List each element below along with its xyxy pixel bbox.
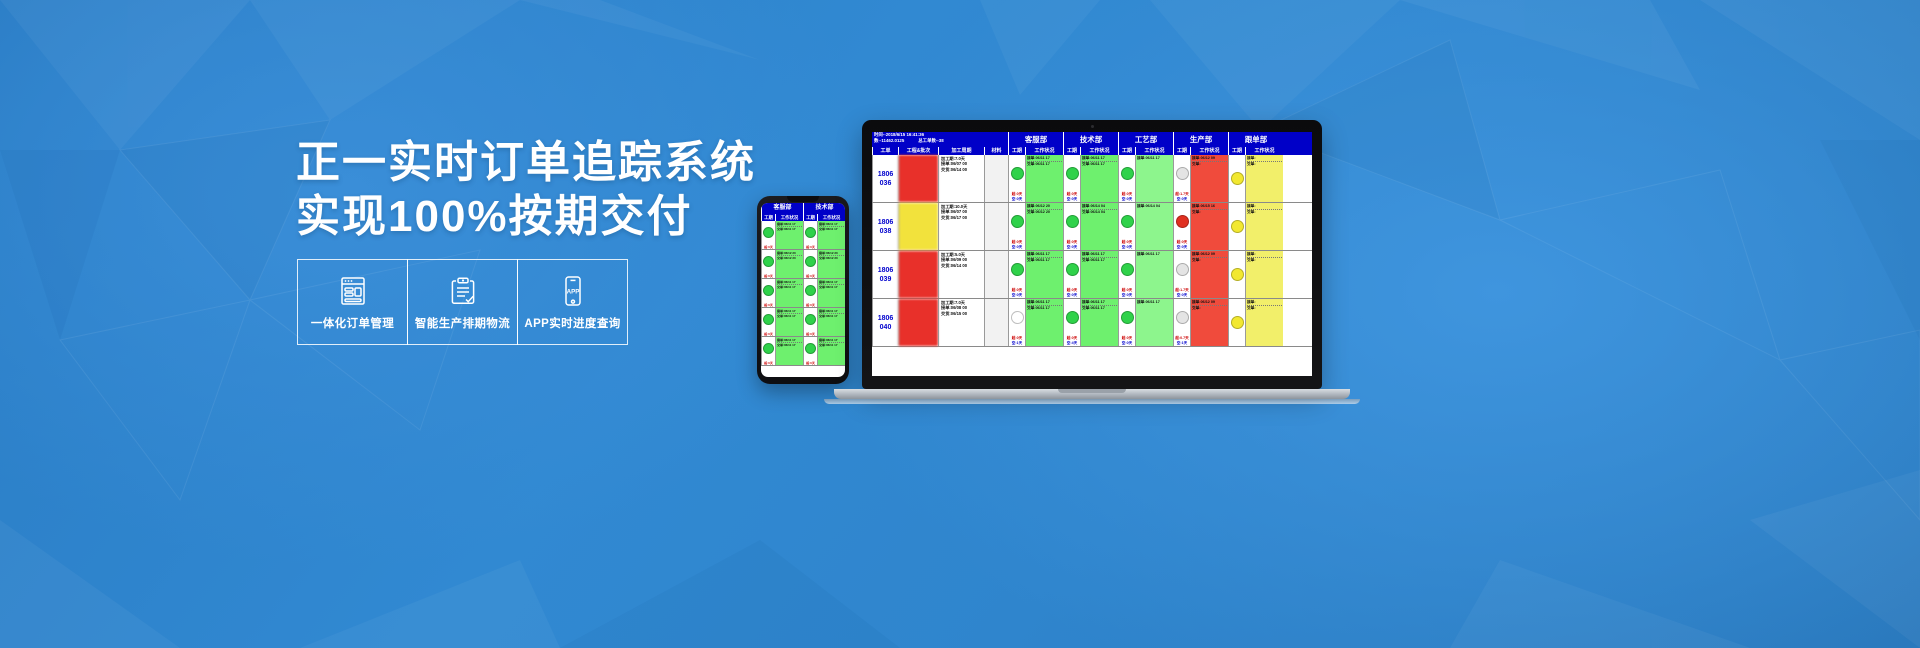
clipboard-checklist-icon (446, 274, 480, 308)
dept-0-status-cell[interactable]: 接单:06/11 17交单:06/11 17 (1025, 251, 1063, 298)
dept-3-duration-cell[interactable]: 超:0天空:0天 (1173, 203, 1190, 250)
phone-status-cell[interactable]: 接单:06/11 17交单:06/11 17 (817, 279, 845, 307)
status-dot (1066, 311, 1079, 324)
work-order-cell[interactable]: 1806039 (872, 251, 898, 298)
status-dot (1176, 263, 1189, 276)
status-dot (1231, 316, 1244, 329)
dept-4-status-cell[interactable]: 接单:交单: (1245, 155, 1283, 202)
feature-item-app-progress[interactable]: APP APP实时进度查询 (517, 259, 628, 345)
over-tag: 超:0天 (762, 245, 775, 249)
dept-2-status-cell[interactable]: 接单:06/11 17 (1135, 299, 1173, 346)
over-tag: 超:0天 (804, 303, 817, 307)
table-row[interactable]: 1806038加工期:10.0天接单:06/07 00交货:06/17 00超:… (872, 203, 1312, 251)
material-cell[interactable] (984, 203, 1008, 250)
status-dot (805, 343, 816, 354)
status-dot (805, 285, 816, 296)
dept-1-duration-cell[interactable]: 超:0天空:0天 (1063, 155, 1080, 202)
status-dot (1231, 220, 1244, 233)
phone-duration-cell[interactable]: 超:0天 (803, 221, 817, 249)
table-row[interactable]: 1806036加工期:7.0天接单:06/07 00交货:06/14 00超:0… (872, 155, 1312, 203)
table-row[interactable]: 1806040加工期:7.0天接单:06/08 00交货:06/15 00超:0… (872, 299, 1312, 347)
phone-dept-0-status-header[interactable]: 工作状况 (775, 214, 803, 221)
dept-0-duration-cell[interactable]: 超:0天空:1天 (1008, 299, 1025, 346)
phone-duration-cell[interactable]: 超:0天 (761, 250, 775, 278)
phone-table-row[interactable]: 超:0天接单:06/11 17交单:06/11 17超:0天接单:06/11 1… (761, 308, 845, 337)
over-tag: 超:0天 (804, 361, 817, 365)
status-dot (763, 227, 774, 238)
dept-2-duration-cell[interactable]: 超:0天空:0天 (1118, 155, 1135, 202)
remain-tag: 空:0天 (1119, 245, 1135, 250)
webcam-icon (1091, 125, 1094, 128)
phone-status-cell[interactable]: 接单:06/11 17交单:06/11 17 (775, 337, 803, 365)
over-tag: 超:0天 (762, 303, 775, 307)
status-dot (1066, 263, 1079, 276)
phone-mockup: 客服部技术部工期工作状况工期工作状况超:0天接单:06/11 17交单:06/1… (757, 196, 849, 384)
feature-label: 一体化订单管理 (311, 315, 394, 331)
status-dot (1176, 311, 1189, 324)
dept-header-0[interactable]: 客服部 (1008, 132, 1063, 147)
dept-1-status-cell[interactable]: 接单:06/11 17交单:06/11 17 (1080, 251, 1118, 298)
cycle-cell[interactable]: 加工期:7.0天接单:06/07 00交货:06/14 00 (938, 155, 984, 202)
dept-3-status-cell[interactable]: 接单:06/15 16交单: (1190, 203, 1228, 250)
status-dot (763, 285, 774, 296)
dept-0-duration-cell[interactable]: 超:0天空:0天 (1008, 251, 1025, 298)
dept-2-duration-cell[interactable]: 超:0天空:0天 (1118, 299, 1135, 346)
phone-table-row[interactable]: 超:0天接单:06/11 17交单:06/11 17超:0天接单:06/11 1… (761, 337, 845, 366)
feature-list: 一体化订单管理 智能生产排期物流 APP APP实时进度查询 (297, 259, 627, 345)
dept-2-status-cell[interactable]: 接单:06/14 04 (1135, 203, 1173, 250)
dept-2-duration-cell[interactable]: 超:0天空:0天 (1118, 203, 1135, 250)
feature-item-order-management[interactable]: 一体化订单管理 (297, 259, 408, 345)
cycle-cell[interactable]: 加工期:10.0天接单:06/07 00交货:06/17 00 (938, 203, 984, 250)
status-dot (1011, 263, 1024, 276)
dept-1-status-header[interactable]: 工作状况 (1080, 147, 1118, 155)
svg-text:APP: APP (566, 288, 579, 295)
remain-tag: 空:4天 (1064, 341, 1080, 346)
dept-0-status-cell[interactable]: 接单:06/11 17交单:06/11 17 (1025, 299, 1063, 346)
phone-dept-1-status-header[interactable]: 工作状况 (817, 214, 845, 221)
status-dot (805, 227, 816, 238)
phone-table-row[interactable]: 超:0天接单:06/11 17交单:06/11 17超:0天接单:06/11 1… (761, 279, 845, 308)
work-order-cell[interactable]: 1806036 (872, 155, 898, 202)
dashboard-total: 总工单数--38 (918, 138, 943, 144)
phone-duration-cell[interactable]: 超:0天 (761, 221, 775, 249)
phone-duration-cell[interactable]: 超:0天 (761, 337, 775, 365)
remain-tag: 空:0天 (1174, 197, 1190, 202)
phone-status-cell[interactable]: 接单:06/11 17交单:06/11 17 (817, 337, 845, 365)
remain-tag: 空:1天 (1174, 341, 1190, 346)
col-header-3[interactable]: 材料 (984, 147, 1008, 155)
dashboard-subheader: 工单工程&批次加工周期材料工期工作状况工期工作状况工期工作状况工期工作状况工期工… (872, 147, 1312, 155)
cycle-cell[interactable]: 加工期:7.0天接单:06/08 00交货:06/15 00 (938, 299, 984, 346)
col-header-0[interactable]: 工单 (872, 147, 898, 155)
dept-4-duration-cell[interactable] (1228, 155, 1245, 202)
status-dot (805, 256, 816, 267)
remain-tag: 空:0天 (1119, 341, 1135, 346)
dept-4-duration-cell[interactable] (1228, 299, 1245, 346)
phone-status-cell[interactable]: 接单:06/11 17交单:06/11 17 (775, 221, 803, 249)
status-dot (1231, 268, 1244, 281)
dashboard-rows: 1806036加工期:7.0天接单:06/07 00交货:06/14 00超:0… (872, 155, 1312, 347)
project-batch-cell[interactable] (898, 155, 938, 202)
phone-screen[interactable]: 客服部技术部工期工作状况工期工作状况超:0天接单:06/11 17交单:06/1… (761, 203, 845, 377)
dept-3-duration-cell[interactable]: 超:1.7天空:0天 (1173, 155, 1190, 202)
over-tag: 超:0天 (762, 332, 775, 336)
laptop-lid: 时间--2018/6/15 16:41:36数--11462.0125总工单数-… (862, 120, 1322, 389)
remain-tag: 空:0天 (1119, 197, 1135, 202)
col-header-1[interactable]: 工程&批次 (898, 147, 938, 155)
dashboard-code: 数--11462.0125 (874, 138, 904, 144)
phone-status-cell[interactable]: 接单:06/11 17交单:06/11 17 (775, 279, 803, 307)
over-tag: 超:0天 (762, 361, 775, 365)
dept-0-duration-cell[interactable]: 超:0天空:0天 (1008, 203, 1025, 250)
phone-dashboard[interactable]: 客服部技术部工期工作状况工期工作状况超:0天接单:06/11 17交单:06/1… (761, 203, 845, 377)
over-tag: 超:0天 (804, 245, 817, 249)
status-dot (763, 343, 774, 354)
dept-3-status-cell[interactable]: 接单:06/12 09交单: (1190, 251, 1228, 298)
dept-3-duration-header[interactable]: 工期 (1173, 147, 1190, 155)
dept-header-2[interactable]: 工艺部 (1118, 132, 1173, 147)
table-row[interactable]: 1806039加工期:5.0天接单:06/09 00交货:06/14 00超:0… (872, 251, 1312, 299)
dept-3-duration-cell[interactable]: 超:1.7天空:0天 (1173, 251, 1190, 298)
over-tag: 超:0天 (804, 274, 817, 278)
laptop-mockup: 时间--2018/6/15 16:41:36数--11462.0125总工单数-… (862, 120, 1322, 415)
remain-tag: 空:0天 (1119, 293, 1135, 298)
phone-dept-0-duration-header[interactable]: 工期 (761, 214, 775, 221)
dept-3-duration-cell[interactable]: 超:0.7天空:1天 (1173, 299, 1190, 346)
dept-1-duration-header[interactable]: 工期 (1063, 147, 1080, 155)
phone-duration-cell[interactable]: 超:0天 (761, 308, 775, 336)
dept-header-3[interactable]: 生产部 (1173, 132, 1228, 147)
phone-body: 客服部技术部工期工作状况工期工作状况超:0天接单:06/11 17交单:06/1… (757, 196, 849, 384)
laptop-base (834, 389, 1350, 399)
over-tag: 超:0天 (804, 332, 817, 336)
dept-header-1[interactable]: 技术部 (1063, 132, 1118, 147)
cycle-cell[interactable]: 加工期:5.0天接单:06/09 00交货:06/14 00 (938, 251, 984, 298)
dept-2-status-cell[interactable]: 接单:06/11 17 (1135, 251, 1173, 298)
status-dot (1121, 215, 1134, 228)
phone-duration-cell[interactable]: 超:0天 (803, 308, 817, 336)
dept-1-status-cell[interactable]: 接单:06/14 04交单:06/14 04 (1080, 203, 1118, 250)
remain-tag: 空:0天 (1009, 293, 1025, 298)
dept-4-duration-cell[interactable] (1228, 203, 1245, 250)
phone-dept-header-0[interactable]: 客服部 (761, 203, 803, 214)
dept-0-duration-header[interactable]: 工期 (1008, 147, 1025, 155)
status-dot (1011, 167, 1024, 180)
phone-status-cell[interactable]: 接单:06/11 17交单:06/11 17 (775, 308, 803, 336)
dept-4-status-cell[interactable]: 接单:交单: (1245, 251, 1283, 298)
status-dot (1121, 311, 1134, 324)
phone-duration-cell[interactable]: 超:0天 (803, 337, 817, 365)
dept-2-status-cell[interactable]: 接单:06/11 17 (1135, 155, 1173, 202)
status-dot (763, 256, 774, 267)
dept-3-status-cell[interactable]: 接单:06/12 09交单: (1190, 299, 1228, 346)
dept-0-status-cell[interactable]: 接单:06/12 20交单:06/12 20 (1025, 203, 1063, 250)
work-order-cell[interactable]: 1806040 (872, 299, 898, 346)
dept-2-duration-header[interactable]: 工期 (1118, 147, 1135, 155)
phone-dashboard-header: 客服部技术部工期工作状况工期工作状况 (761, 203, 845, 221)
dept-1-duration-cell[interactable]: 超:0天空:0天 (1063, 203, 1080, 250)
laptop-screen[interactable]: 时间--2018/6/15 16:41:36数--11462.0125总工单数-… (872, 132, 1312, 376)
phone-status-cell[interactable]: 接单:06/12 20交单:06/12 20 (817, 250, 845, 278)
project-batch-cell[interactable] (898, 299, 938, 346)
phone-dept-header-1[interactable]: 技术部 (803, 203, 845, 214)
dept-2-status-header[interactable]: 工作状况 (1135, 147, 1173, 155)
col-header-2[interactable]: 加工周期 (938, 147, 984, 155)
phone-duration-cell[interactable]: 超:0天 (803, 250, 817, 278)
phone-dept-1-duration-header[interactable]: 工期 (803, 214, 817, 221)
dept-4-status-cell[interactable]: 接单:交单: (1245, 299, 1283, 346)
remain-tag: 空:0天 (1064, 245, 1080, 250)
remain-tag: 空:0天 (1174, 245, 1190, 250)
remain-tag: 空:0天 (1174, 293, 1190, 298)
status-dot (1066, 215, 1079, 228)
phone-duration-cell[interactable]: 超:0天 (761, 279, 775, 307)
over-tag: 超:0天 (762, 274, 775, 278)
document-list-icon (336, 274, 370, 308)
project-batch-cell[interactable] (898, 203, 938, 250)
phone-table-row[interactable]: 超:0天接单:06/12 20交单:06/12 20超:0天接单:06/12 2… (761, 250, 845, 279)
material-cell[interactable] (984, 251, 1008, 298)
phone-status-cell[interactable]: 接单:06/11 17交单:06/11 17 (817, 308, 845, 336)
remain-tag: 空:1天 (1009, 341, 1025, 346)
dept-header-4[interactable]: 跟单部 (1228, 132, 1283, 147)
status-dot (1121, 263, 1134, 276)
dashboard-meta: 时间--2018/6/15 16:41:36数--11462.0125总工单数-… (872, 132, 1008, 147)
remain-tag: 空:0天 (1009, 245, 1025, 250)
remain-tag: 空:0天 (1064, 197, 1080, 202)
dept-0-duration-cell[interactable]: 超:0天空:0天 (1008, 155, 1025, 202)
status-dot (1121, 167, 1134, 180)
phone-notch (787, 196, 819, 202)
dept-1-status-cell[interactable]: 接单:06/11 17交单:06/11 17 (1080, 299, 1118, 346)
status-dot (1011, 215, 1024, 228)
feature-item-production-scheduling[interactable]: 智能生产排期物流 (407, 259, 518, 345)
dept-0-status-header[interactable]: 工作状况 (1025, 147, 1063, 155)
phone-status-cell[interactable]: 接单:06/12 20交单:06/12 20 (775, 250, 803, 278)
feature-label: APP实时进度查询 (524, 315, 620, 331)
phone-table-row[interactable]: 超:0天接单:06/11 17交单:06/11 17超:0天接单:06/11 1… (761, 221, 845, 250)
status-dot (1011, 311, 1024, 324)
project-batch-cell[interactable] (898, 251, 938, 298)
dept-1-duration-cell[interactable]: 超:0天空:0天 (1063, 251, 1080, 298)
status-dot (1231, 172, 1244, 185)
mobile-app-icon: APP (556, 274, 590, 308)
phone-status-cell[interactable]: 接单:06/11 17交单:06/11 17 (817, 221, 845, 249)
dept-1-status-cell[interactable]: 接单:06/11 17交单:06/11 17 (1080, 155, 1118, 202)
remain-tag: 空:0天 (1064, 293, 1080, 298)
dept-4-duration-cell[interactable] (1228, 251, 1245, 298)
status-dot (805, 314, 816, 325)
phone-duration-cell[interactable]: 超:0天 (803, 279, 817, 307)
dept-3-status-cell[interactable]: 接单:06/12 09交单: (1190, 155, 1228, 202)
dept-3-status-header[interactable]: 工作状况 (1190, 147, 1228, 155)
dept-2-duration-cell[interactable]: 超:0天空:0天 (1118, 251, 1135, 298)
remain-tag: 空:0天 (1009, 197, 1025, 202)
dept-4-status-header[interactable]: 工作状况 (1245, 147, 1283, 155)
material-cell[interactable] (984, 155, 1008, 202)
dashboard-header: 时间--2018/6/15 16:41:36数--11462.0125总工单数-… (872, 132, 1312, 155)
status-dot (1176, 167, 1189, 180)
hero-headline-line1: 正一实时订单追踪系统 (296, 136, 916, 190)
status-dot (1176, 215, 1189, 228)
status-dot (1066, 167, 1079, 180)
dept-4-status-cell[interactable]: 接单:交单: (1245, 203, 1283, 250)
dept-4-duration-header[interactable]: 工期 (1228, 147, 1245, 155)
material-cell[interactable] (984, 299, 1008, 346)
laptop-foot (824, 399, 1360, 404)
feature-label: 智能生产排期物流 (415, 315, 510, 331)
dept-1-duration-cell[interactable]: 超:0天空:4天 (1063, 299, 1080, 346)
status-dot (763, 314, 774, 325)
order-tracking-dashboard[interactable]: 时间--2018/6/15 16:41:36数--11462.0125总工单数-… (872, 132, 1312, 376)
dept-0-status-cell[interactable]: 接单:06/11 17交单:06/11 17 (1025, 155, 1063, 202)
work-order-cell[interactable]: 1806038 (872, 203, 898, 250)
